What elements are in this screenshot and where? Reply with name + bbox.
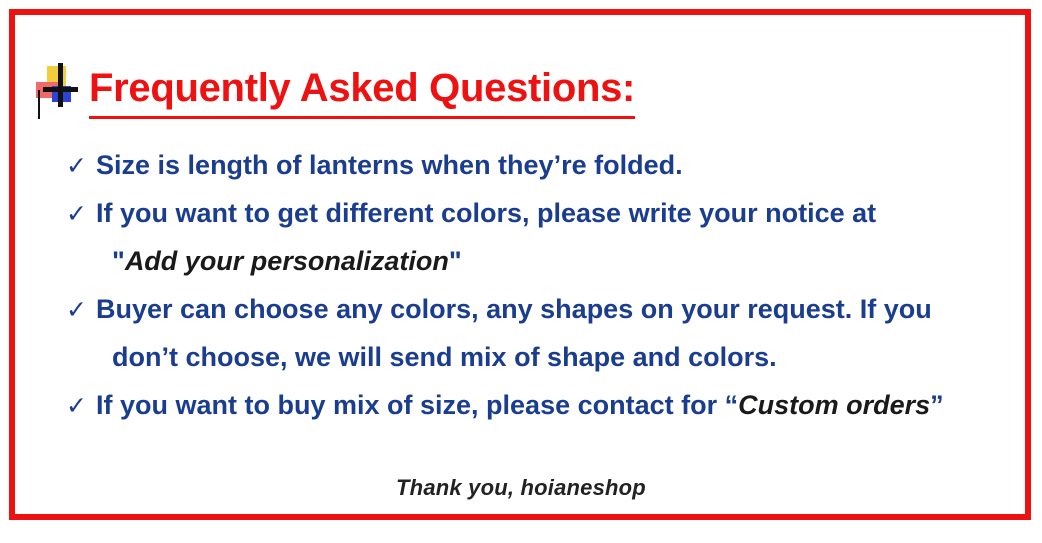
checkmark-icon: ✓ [66,394,96,419]
faq-bullet-item: ✓Buyer can choose any colors, any shapes… [66,296,1026,344]
faq-line-text: Buyer can choose any colors, any shapes … [96,296,932,323]
checkmark-icon: ✓ [66,298,96,323]
text-caret-artifact [38,90,40,119]
checkmark-icon: ✓ [66,154,96,179]
faq-bullet-item: ✓If you want to buy mix of size, please … [66,392,1026,440]
faq-bullet-item: ✓Size is length of lanterns when they’re… [66,152,1026,200]
quote-mark: " [112,246,125,276]
plain-text: Buyer can choose any colors, any shapes … [96,294,932,324]
faq-bullet-continuation: ✓"Add your personalization" [66,248,1026,296]
quote-mark: " [449,246,462,276]
icon-cross-vertical-bar [58,63,63,107]
faq-line-text: If you want to buy mix of size, please c… [96,392,944,419]
faq-line-text: Size is length of lanterns when they’re … [96,152,683,179]
plain-text: don’t choose, we will send mix of shape … [112,342,777,372]
faq-bullet-item: ✓If you want to get different colors, pl… [66,200,1026,248]
quote-mark: “ [725,390,739,420]
page-title-underline [89,116,635,119]
icon-cross-horizontal-bar [43,87,78,92]
faq-line-text: If you want to get different colors, ple… [96,200,876,227]
emphasis-text: Add your personalization [125,246,449,276]
faq-line-text: don’t choose, we will send mix of shape … [112,344,777,371]
quote-mark: ” [930,390,944,420]
page-title: Frequently Asked Questions: [89,68,635,108]
plain-text: If you want to buy mix of size, please c… [96,390,725,420]
faq-line-text: "Add your personalization" [112,248,462,275]
emphasis-text: Custom orders [738,390,930,420]
slide-canvas: Frequently Asked Questions: ✓Size is len… [0,0,1042,543]
plain-text: Size is length of lanterns when they’re … [96,150,683,180]
page-title-text: Frequently Asked Questions: [89,66,635,110]
faq-bullet-list: ✓Size is length of lanterns when they’re… [66,152,1026,440]
plain-text: If you want to get different colors, ple… [96,198,876,228]
faq-bullet-continuation: ✓don’t choose, we will send mix of shape… [66,344,1026,392]
title-row: Frequently Asked Questions: [33,58,635,118]
signature-line: Thank you, hoianeshop [0,475,1042,501]
checkmark-icon: ✓ [66,202,96,227]
